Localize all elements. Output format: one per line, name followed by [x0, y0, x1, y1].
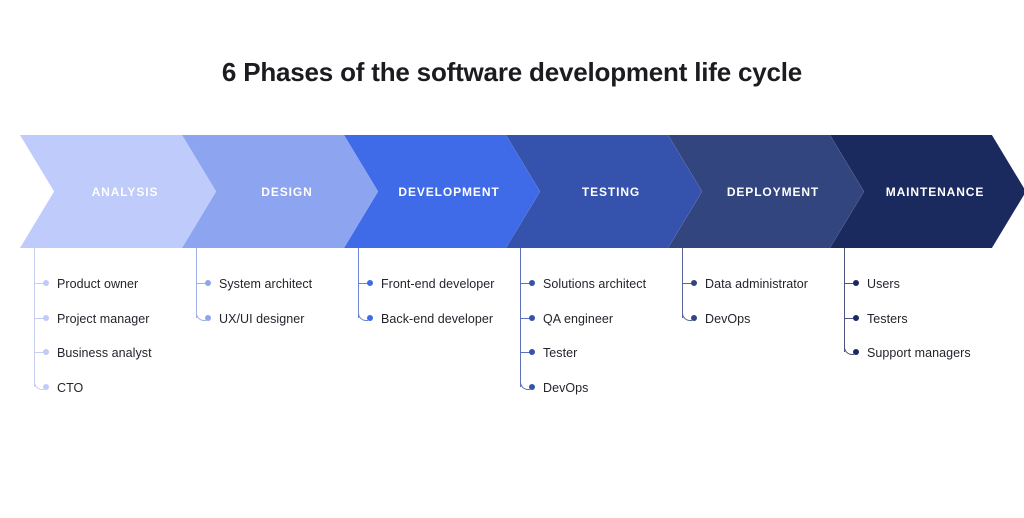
bullet-dot-icon	[529, 349, 535, 355]
role-label: DevOps	[705, 311, 750, 327]
role-label: Data administrator	[705, 276, 808, 292]
phase-label: DEVELOPMENT	[384, 185, 499, 199]
bullet-dot-icon	[43, 349, 49, 355]
bullet-dot-icon	[691, 280, 697, 286]
bullet-dot-icon	[529, 280, 535, 286]
role-label: DevOps	[543, 380, 588, 396]
connector-line	[844, 248, 845, 352]
phase-label: DEPLOYMENT	[713, 185, 819, 199]
role-label: Front-end developer	[381, 276, 495, 292]
role-label: Tester	[543, 345, 577, 361]
role-label: System architect	[219, 276, 312, 292]
role-label: Solutions architect	[543, 276, 646, 292]
role-label: Support managers	[867, 345, 971, 361]
bullet-dot-icon	[43, 315, 49, 321]
phase-chevron-band: ANALYSISDESIGNDEVELOPMENTTESTINGDEPLOYME…	[0, 135, 1024, 248]
bullet-dot-icon	[367, 315, 373, 321]
bullet-dot-icon	[205, 315, 211, 321]
role-label: Project manager	[57, 311, 149, 327]
page-title: 6 Phases of the software development lif…	[0, 57, 1024, 88]
bullet-dot-icon	[853, 280, 859, 286]
bullet-dot-icon	[367, 280, 373, 286]
role-label: UX/UI designer	[219, 311, 304, 327]
phase-label: DESIGN	[247, 185, 312, 199]
bullet-dot-icon	[853, 315, 859, 321]
bullet-dot-icon	[529, 384, 535, 390]
role-label: Back-end developer	[381, 311, 493, 327]
phase-label: TESTING	[568, 185, 640, 199]
sdlc-infographic: 6 Phases of the software development lif…	[0, 0, 1024, 518]
role-label: Product owner	[57, 276, 138, 292]
phase-chevron-1[interactable]: ANALYSIS	[20, 135, 216, 248]
bullet-dot-icon	[205, 280, 211, 286]
role-label: QA engineer	[543, 311, 613, 327]
role-label: Testers	[867, 311, 908, 327]
bullet-dot-icon	[691, 315, 697, 321]
role-label: Business analyst	[57, 345, 152, 361]
phase-label: MAINTENANCE	[872, 185, 985, 199]
role-label: Users	[867, 276, 900, 292]
role-label: CTO	[57, 380, 83, 396]
bullet-dot-icon	[43, 280, 49, 286]
bullet-dot-icon	[853, 349, 859, 355]
bullet-dot-icon	[43, 384, 49, 390]
phase-label: ANALYSIS	[78, 185, 159, 199]
bullet-dot-icon	[529, 315, 535, 321]
